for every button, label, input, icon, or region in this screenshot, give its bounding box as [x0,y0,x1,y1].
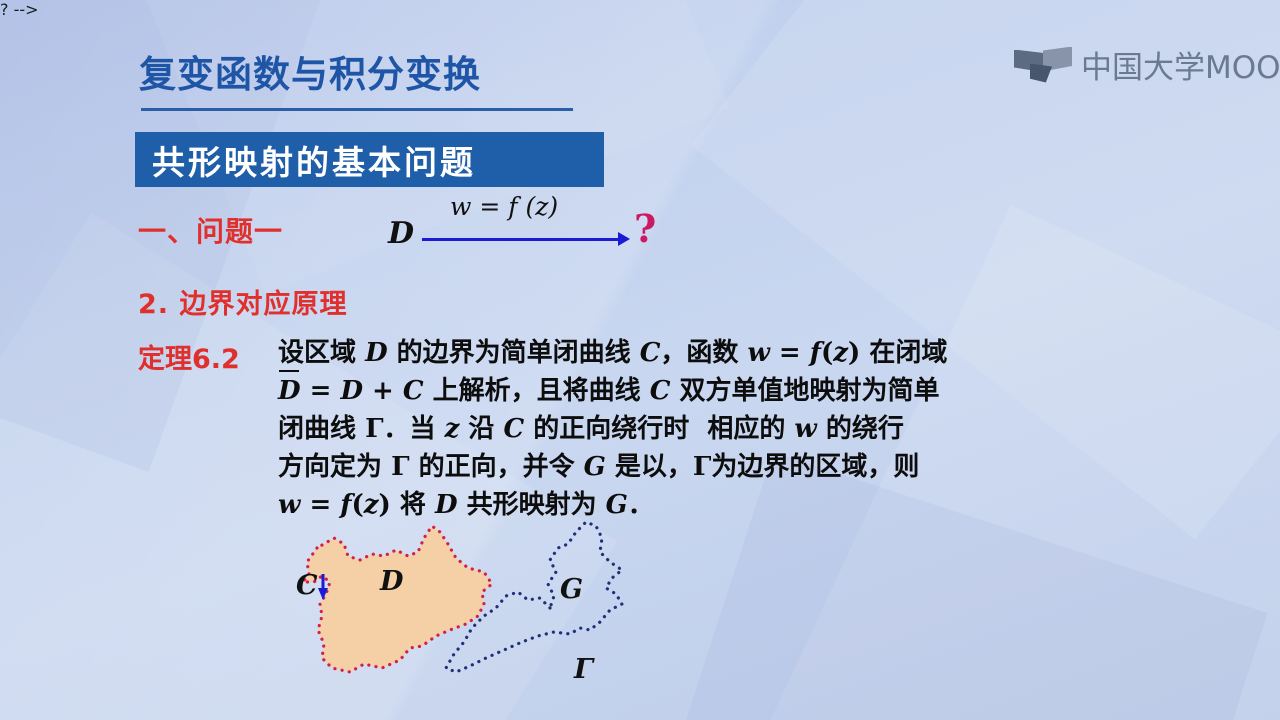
slide-canvas: 中国大学MOO 复变函数与积分变换 共形映射的基本问题 一、问题一 ? --> … [0,0,1280,720]
mooc-logo: 中国大学MOO [1014,42,1280,87]
title-underline [141,108,573,111]
section-banner: 共形映射的基本问题 [137,134,602,185]
mapping-target-question-mark: ? [634,206,656,251]
book-logo-icon [1014,46,1072,84]
mapping-arrow-head-icon [618,232,630,246]
theorem-line-4: 方向定为 Γ 的正向，并令 G 是以，Γ为边界的区域，则 [278,448,1078,486]
domain-d-label: D [379,566,404,597]
image-g-label: G [560,574,583,605]
page-title: 复变函数与积分变换 [139,44,481,98]
mapping-diagram: w = f (z) D ? [388,196,678,258]
theorem-line-3: 闭曲线 Γ．当 z 沿 C 的正向绕行时 相应的 w 的绕行 [278,410,1078,448]
mapping-source-label: D [388,216,414,251]
section-two-heading: 2. 边界对应原理 [138,282,347,321]
region-diagrams: D C G Γ [260,512,760,702]
domain-d-shape: D [303,526,492,672]
image-boundary-gamma-label: Γ [573,654,595,685]
regions-svg: D C G Γ [260,512,760,702]
theorem-line-1: 设区域 D 的边界为简单闭曲线 C，函数 w = f(z) 在闭域 [278,334,1078,372]
mapping-function-label: w = f (z) [450,192,558,221]
boundary-c-label: C [296,570,318,601]
section-banner-label: 共形映射的基本问题 [137,136,476,184]
logo-wordmark: 中国大学MOO [1081,42,1280,87]
theorem-line-2: D = D + C 上解析，且将曲线 C 双方单值地映射为简单 [278,372,1078,410]
mapping-arrow-line [422,238,622,241]
theorem-body: 设区域 D 的边界为简单闭曲线 C，函数 w = f(z) 在闭域 D = D … [278,334,1078,524]
theorem-label: 定理6.2 [138,337,240,376]
section-one-heading: 一、问题一 [138,210,283,250]
